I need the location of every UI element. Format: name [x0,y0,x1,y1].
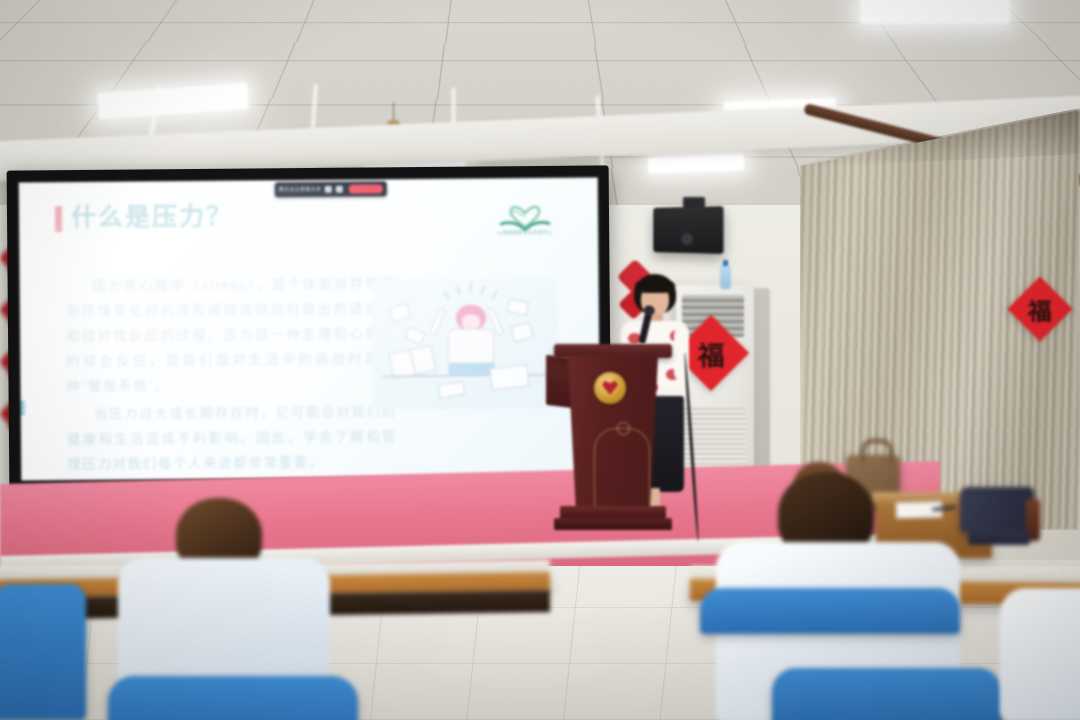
raised-arm-left [428,307,446,337]
fu-character-wall: 福 [1028,292,1052,327]
audience-chair-left-1[interactable] [0,584,86,720]
office-chair-back [960,487,1034,533]
stress-ray-2 [456,286,460,295]
flying-paper-3 [506,298,529,316]
screen-share-toolbar[interactable]: 腾讯会议屏幕共享 [275,181,387,197]
slide-paragraph-1: 压力在心理学（stress），是个体面对并觉察到环境变化对机体有威胁或挑战时做出… [66,271,397,399]
flying-paper-1 [388,302,412,323]
end-share-button[interactable] [349,184,383,193]
person-face [462,315,480,330]
stress-ray-1 [443,291,450,300]
water-bottle-on-ac[interactable] [720,265,731,289]
audience-member-far-right [1000,588,1080,720]
person-skirt [448,362,494,374]
led-display-wall[interactable]: 什么是压力？ 压力在心理学（stress），是个体面对并觉察到环境变化对机体有威… [7,165,612,490]
slide-paragraph-2: 当压力过大或长期存在时，它可能会对我们的健康和生活造成不利影响。因此，学会了解和… [67,399,398,477]
share-label: 腾讯会议屏幕共享 [279,186,321,193]
podium-front-panel [564,356,662,508]
podium-top-surface [554,344,672,358]
leather-office-chair[interactable] [956,487,1040,553]
flying-paper-5 [438,381,466,399]
podium-gold-trim [594,428,650,516]
wall-speaker [653,206,723,254]
podium-base-lower [554,518,672,530]
slide-title-accent-bar [55,206,62,232]
projected-slide: 什么是压力？ 压力在心理学（stress），是个体面对并觉察到环境变化对机体有威… [19,177,601,480]
ceiling-light-5 [648,154,744,173]
wooden-podium [554,344,672,540]
paper-stack [489,364,529,390]
stressed-person-illustration [372,278,559,410]
far-right-shirt [1000,588,1080,720]
screen-side-tab[interactable] [19,400,25,415]
presenter-fringe [635,278,675,293]
ceiling-light-6 [860,0,1010,24]
cloud-icon[interactable] [325,186,332,193]
audience-chair-left-2[interactable] [108,676,358,720]
logo-caption: 心理健康教育与咨询中心 [471,230,579,237]
stress-ray-5 [492,291,498,300]
flying-paper-2 [404,326,426,345]
fu-character-ac: 福 [698,334,725,373]
audience-chair-right-1[interactable] [700,588,960,634]
audience-chair-right-2[interactable] [772,668,1002,720]
slide-title: 什么是压力？ [71,197,233,234]
institution-emblem [594,372,626,404]
slide-body-text: 压力在心理学（stress），是个体面对并觉察到环境变化对机体有威胁或挑战时做出… [66,271,398,480]
stress-ray-4 [481,285,485,294]
heart-leaf-logo: 心理健康教育与咨询中心 [471,190,579,237]
note-icon[interactable] [336,186,343,193]
flying-paper-4 [510,322,534,343]
scene-root: 福 什么是压力？ 压力在心理学（stress），是个体面对并觉察到环境变化对机体… [0,0,1080,720]
office-chair-seat [968,531,1030,545]
stress-ray-3 [470,283,472,292]
